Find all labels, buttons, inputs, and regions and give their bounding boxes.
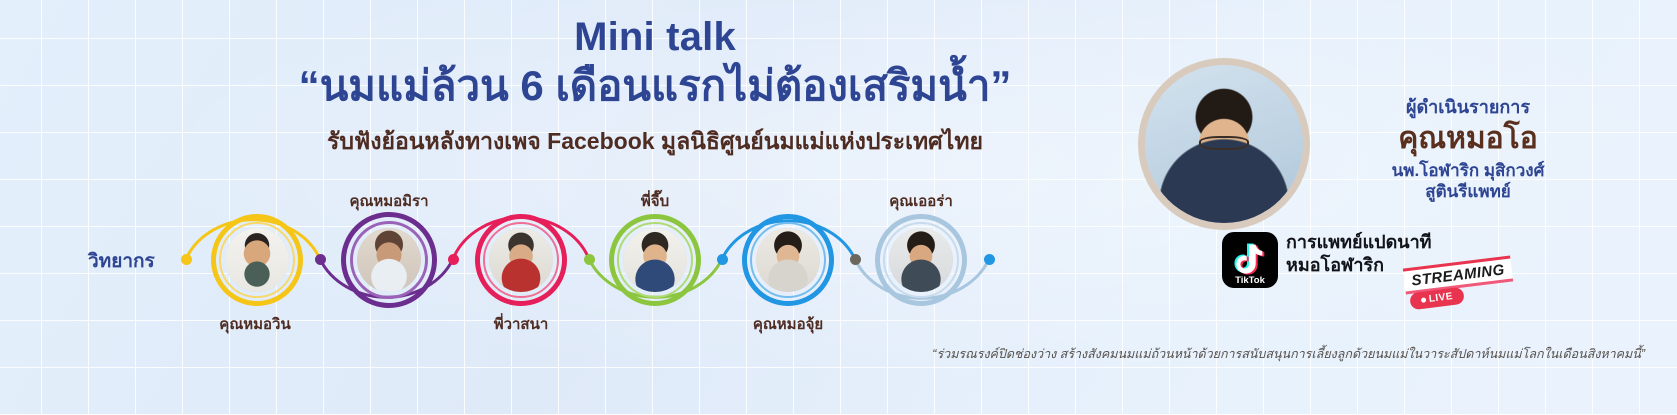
- channel-caption-line1: การแพทย์แปดนาที: [1286, 231, 1432, 254]
- avatar: [357, 228, 421, 292]
- connector-dot: [584, 254, 595, 265]
- speaker-label-5: คุณหมอจุ้ย: [713, 312, 863, 336]
- speaker-label-4: พี่จี๊บ: [580, 189, 730, 213]
- avatar: [623, 228, 687, 292]
- headline-block: Mini talk “นมแม่ล้วน 6 เดือนแรกไม่ต้องเส…: [180, 16, 1130, 160]
- host-info: ผู้ดำเนินรายการ คุณหมอโอ นพ.โอฬาริก มุสิ…: [1318, 92, 1618, 202]
- host-photo-frame: [1138, 58, 1310, 230]
- speaker-label-1: คุณหมอวิน: [180, 312, 330, 336]
- page-title: Mini talk: [180, 16, 1130, 58]
- tiktok-wordmark: TikTok: [1235, 275, 1265, 286]
- streaming-label: STREAMING: [1411, 261, 1506, 289]
- avatar: [489, 228, 553, 292]
- avatar: [756, 228, 820, 292]
- footer-note: “ร่วมรณรงค์ปิดช่องว่าง สร้างสังคมนมแม่ถ้…: [845, 344, 1645, 364]
- tiktok-icon[interactable]: TikTok: [1222, 232, 1278, 288]
- campaign-banner: Mini talk “นมแม่ล้วน 6 เดือนแรกไม่ต้องเส…: [0, 0, 1677, 415]
- connector-dot: [315, 254, 326, 265]
- connector-dot: [717, 254, 728, 265]
- host-role-label: ผู้ดำเนินรายการ: [1318, 92, 1618, 121]
- connector-dot: [850, 254, 861, 265]
- speaker-label-6: คุณเออร่า: [846, 189, 996, 213]
- live-dot-icon: [1421, 297, 1427, 303]
- glasses-icon: [1199, 136, 1250, 150]
- avatar: [889, 228, 953, 292]
- title-quote: “นมแม่ล้วน 6 เดือนแรกไม่ต้องเสริมน้ำ”: [180, 62, 1130, 109]
- host-full-name: นพ.โอฬาริก มุสิกวงศ์: [1318, 160, 1618, 181]
- connector-dot: [181, 254, 192, 265]
- speaker-label-3: พี่วาสนา: [446, 312, 596, 336]
- avatar: [225, 228, 289, 292]
- live-label: LIVE: [1428, 291, 1453, 305]
- host-nickname: คุณหมอโอ: [1318, 123, 1618, 155]
- speaker-label-2: คุณหมอมิรา: [314, 189, 464, 213]
- connector-dot: [448, 254, 459, 265]
- connector-dot: [984, 254, 995, 265]
- subtitle: รับฟังย้อนหลังทางเพจ Facebook มูลนิธิศูน…: [180, 124, 1130, 160]
- host-avatar: [1145, 65, 1303, 223]
- host-specialty: สูตินรีแพทย์: [1318, 181, 1618, 202]
